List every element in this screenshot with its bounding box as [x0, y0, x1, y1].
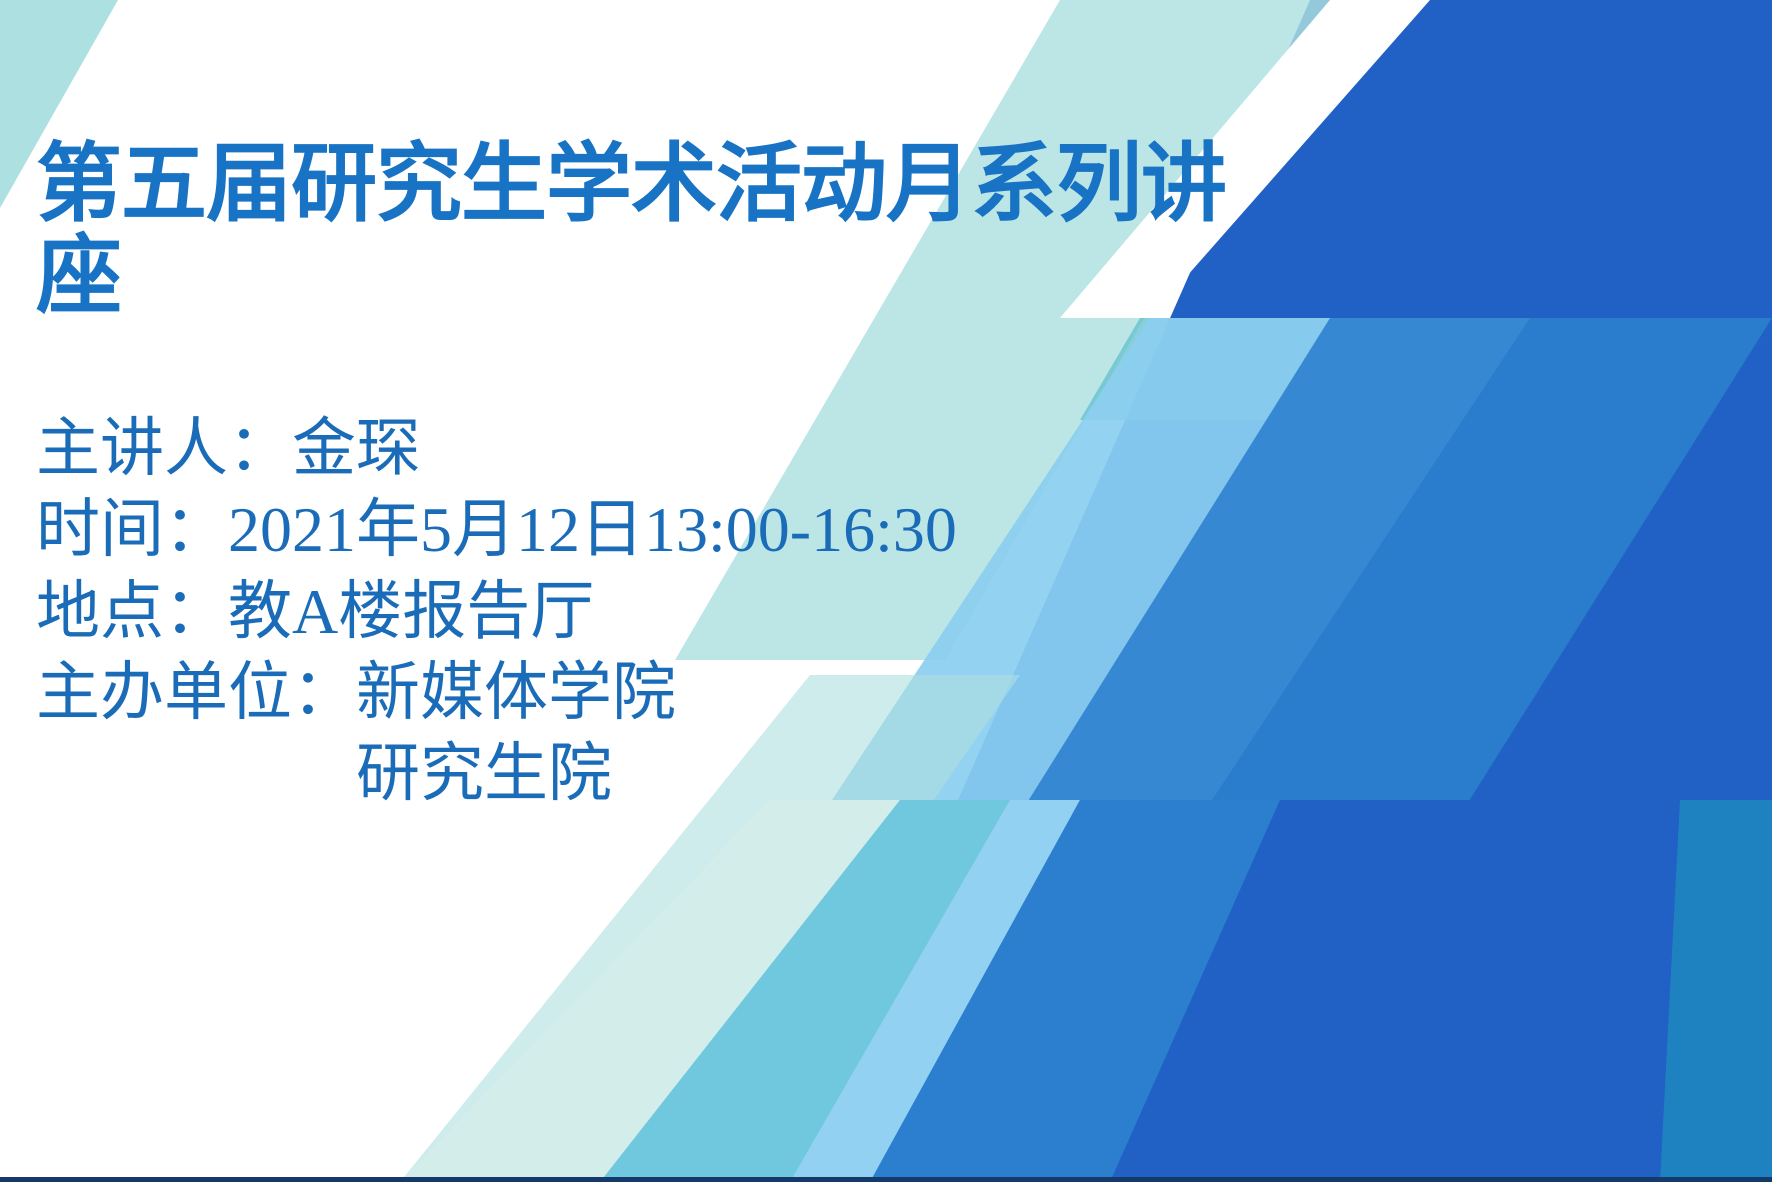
- detail-speaker: 主讲人：金琛: [36, 408, 1436, 489]
- slide-text-content: 第五届研究生学术活动月系列讲座 主讲人：金琛 时间：2021年5月12日13:0…: [0, 0, 1772, 1182]
- presentation-slide: 第五届研究生学术活动月系列讲座 主讲人：金琛 时间：2021年5月12日13:0…: [0, 0, 1772, 1182]
- detail-organizer-secondary: 研究生院: [36, 733, 1436, 814]
- bottom-rule: [0, 1177, 1772, 1182]
- page-title: 第五届研究生学术活动月系列讲座: [36, 138, 1226, 322]
- detail-venue: 地点：教A楼报告厅: [36, 571, 1436, 652]
- detail-time: 时间：2021年5月12日13:00-16:30: [36, 489, 1436, 570]
- detail-organizer: 主办单位：新媒体学院: [36, 652, 1436, 733]
- event-details-block: 主讲人：金琛 时间：2021年5月12日13:00-16:30 地点：教A楼报告…: [36, 408, 1436, 814]
